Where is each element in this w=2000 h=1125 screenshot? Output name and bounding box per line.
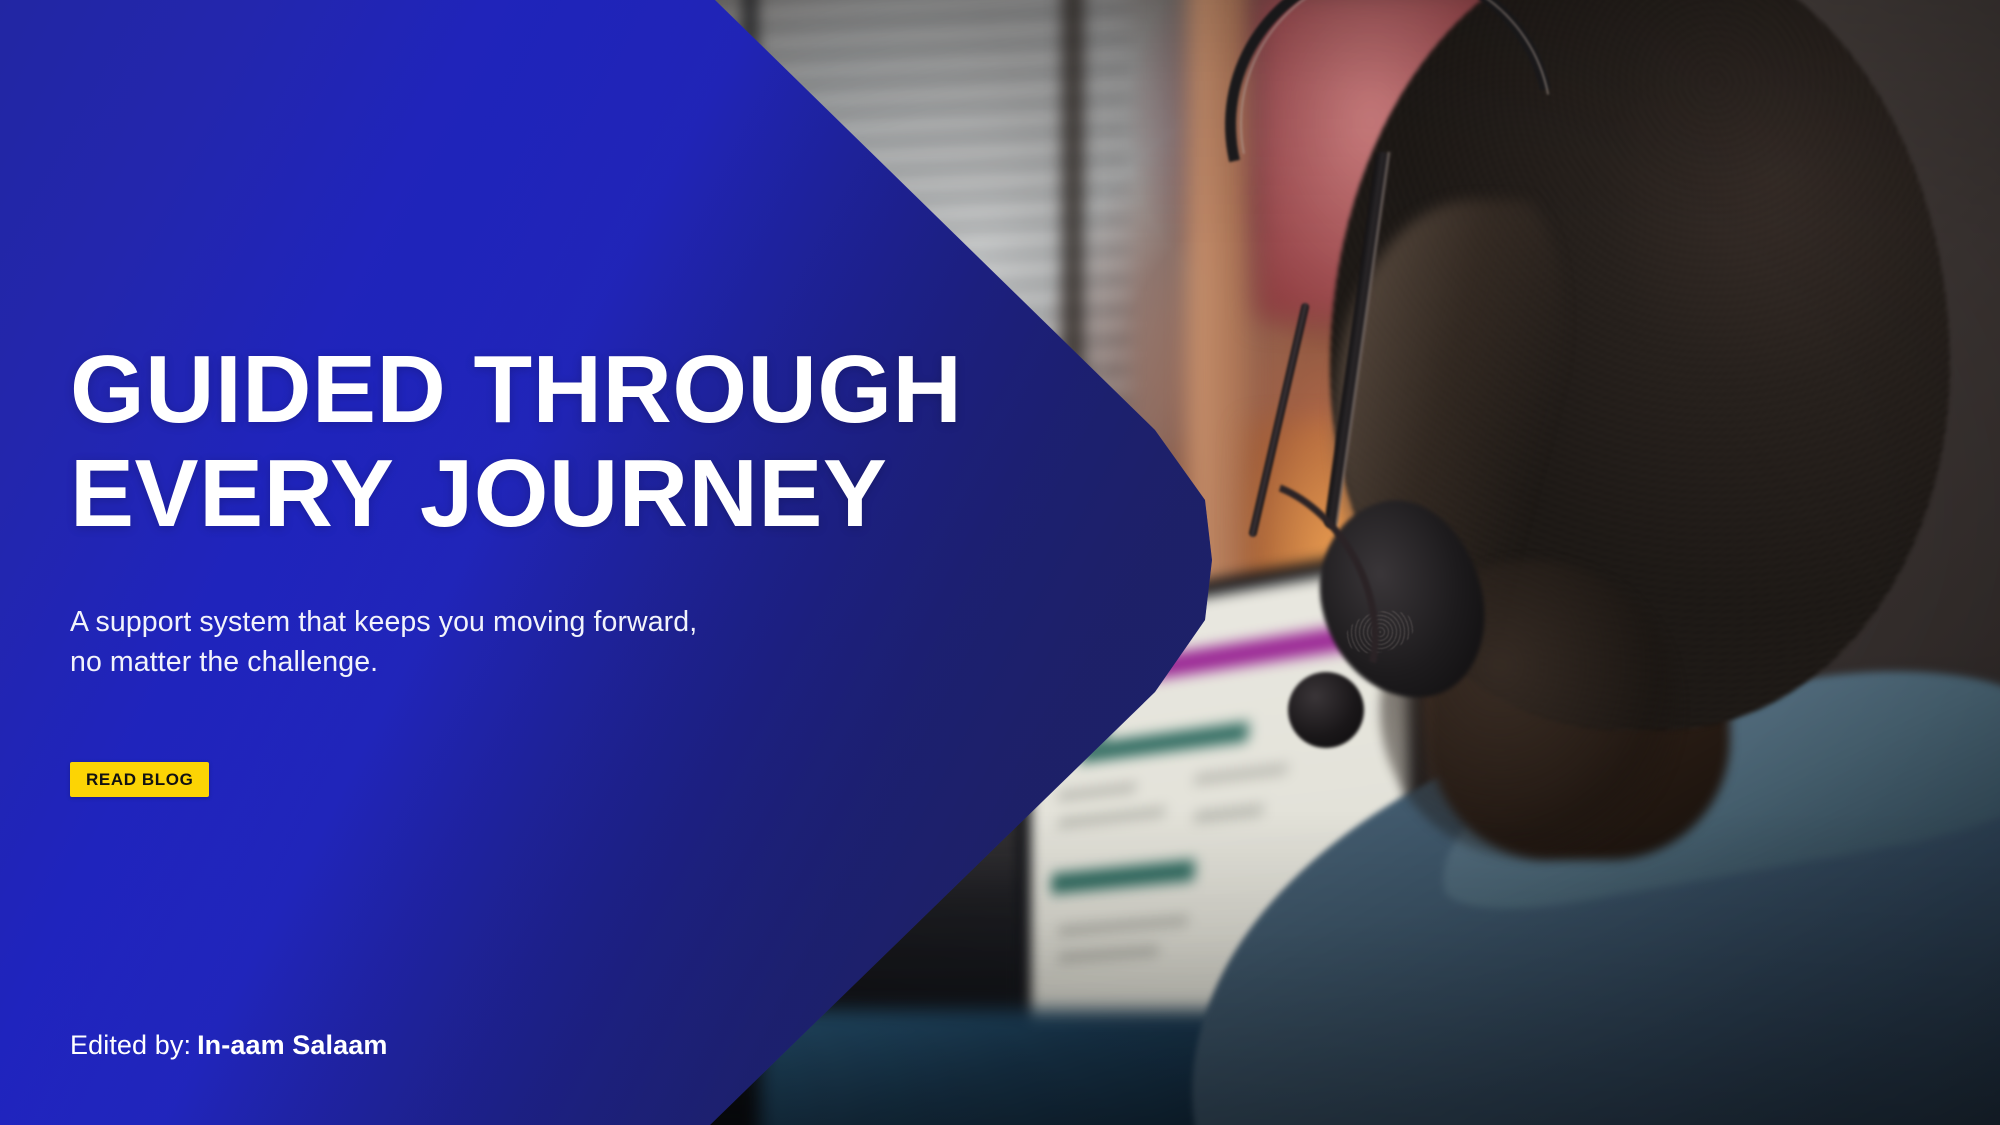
editor-credit: Edited by:In-aam Salaam (70, 1028, 387, 1062)
page-title: GUIDED THROUGH EVERY JOURNEY (70, 338, 962, 546)
hero-banner: GUIDED THROUGH EVERY JOURNEY A support s… (0, 0, 2000, 1125)
hero-content: GUIDED THROUGH EVERY JOURNEY A support s… (70, 0, 970, 1125)
read-blog-button[interactable]: READ BLOG (70, 762, 209, 797)
editor-credit-name: In-aam Salaam (197, 1030, 387, 1060)
editor-credit-label: Edited by: (70, 1030, 191, 1060)
subtitle-text: A support system that keeps you moving f… (70, 602, 697, 682)
